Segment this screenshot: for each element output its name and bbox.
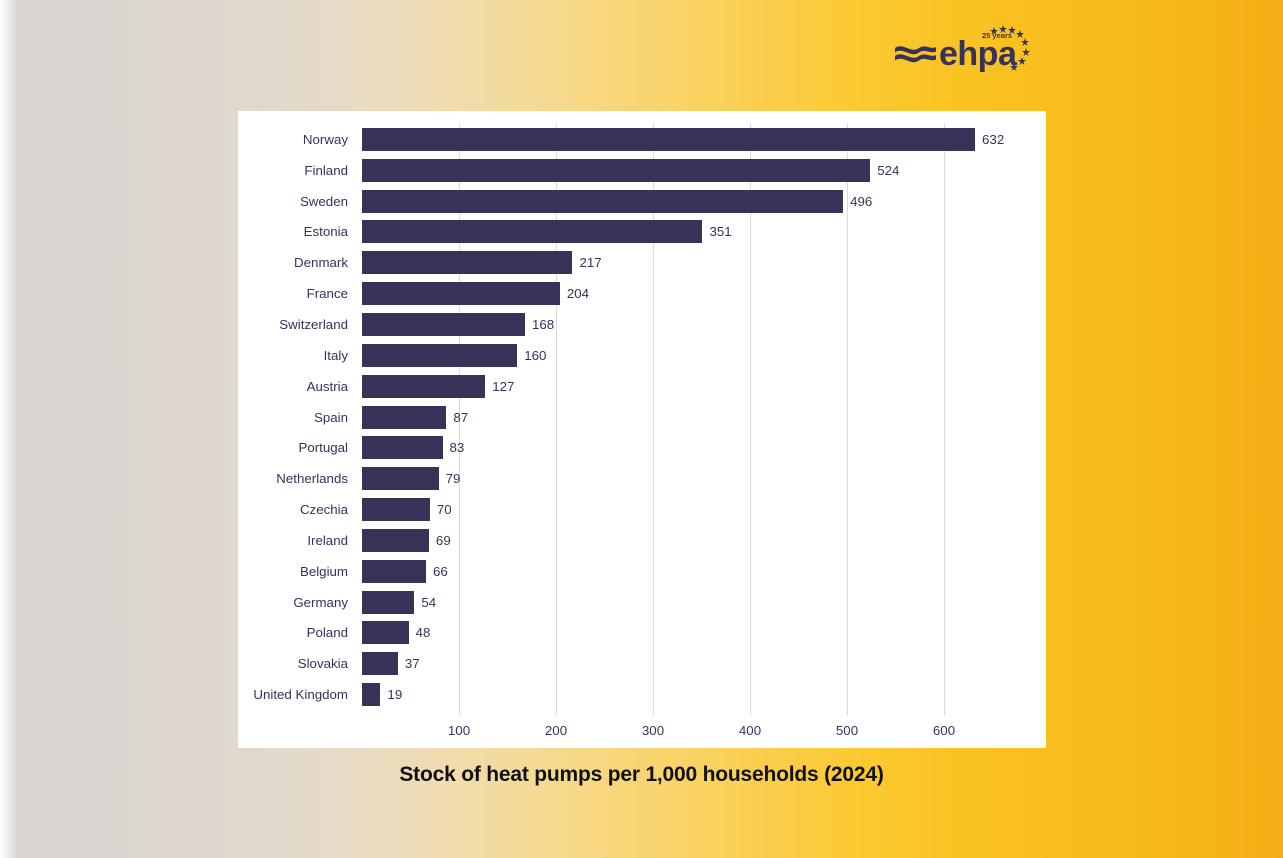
ehpa-logo: ehpa 25 years xyxy=(893,24,1038,74)
bar-value-label: 79 xyxy=(446,471,461,486)
bar-container: 69 xyxy=(362,525,451,556)
bar-value-label: 204 xyxy=(567,286,589,301)
bar-row: United Kingdom19 xyxy=(238,679,1046,710)
category-label-slovakia: Slovakia xyxy=(238,656,348,671)
bar-container: 79 xyxy=(362,463,460,494)
bar-value-label: 632 xyxy=(982,132,1004,147)
bar-container: 160 xyxy=(362,340,546,371)
bar[interactable] xyxy=(362,467,439,490)
bar[interactable] xyxy=(362,652,398,675)
bar-row: Netherlands79 xyxy=(238,463,1046,494)
bar-value-label: 168 xyxy=(532,317,554,332)
bar-container: 351 xyxy=(362,217,732,248)
category-label-spain: Spain xyxy=(238,410,348,425)
bar[interactable] xyxy=(362,313,525,336)
category-label-france: France xyxy=(238,286,348,301)
category-label-poland: Poland xyxy=(238,625,348,640)
x-tick-label-500: 500 xyxy=(836,723,858,738)
bar-container: 127 xyxy=(362,371,514,402)
bar-value-label: 83 xyxy=(450,440,465,455)
bar[interactable] xyxy=(362,282,560,305)
bar-row: Ireland69 xyxy=(238,525,1046,556)
bar-row: France204 xyxy=(238,278,1046,309)
bar-row: Belgium66 xyxy=(238,556,1046,587)
bar[interactable] xyxy=(362,251,572,274)
bar-row: Sweden496 xyxy=(238,186,1046,217)
bar-rows: Norway632Finland524Sweden496Estonia351De… xyxy=(238,124,1046,710)
bar-container: 83 xyxy=(362,432,464,463)
category-label-belgium: Belgium xyxy=(238,564,348,579)
bar-value-label: 524 xyxy=(877,163,899,178)
bar-value-label: 160 xyxy=(524,348,546,363)
bar-value-label: 351 xyxy=(709,224,731,239)
bar-container: 496 xyxy=(362,186,872,217)
bar-value-label: 54 xyxy=(421,595,436,610)
bar[interactable] xyxy=(362,344,517,367)
bar[interactable] xyxy=(362,190,843,213)
bar-container: 54 xyxy=(362,587,436,618)
x-tick-label-400: 400 xyxy=(739,723,761,738)
bar-value-label: 19 xyxy=(387,687,402,702)
category-label-denmark: Denmark xyxy=(238,255,348,270)
bar-row: Switzerland168 xyxy=(238,309,1046,340)
bar-container: 632 xyxy=(362,124,1004,155)
category-label-norway: Norway xyxy=(238,132,348,147)
x-tick-label-200: 200 xyxy=(545,723,567,738)
bar-value-label: 127 xyxy=(492,379,514,394)
bar[interactable] xyxy=(362,621,409,644)
bar-value-label: 496 xyxy=(850,194,872,209)
bar[interactable] xyxy=(362,498,430,521)
bar-container: 66 xyxy=(362,556,448,587)
bar-container: 87 xyxy=(362,402,468,433)
bar[interactable] xyxy=(362,529,429,552)
bar[interactable] xyxy=(362,436,443,459)
category-label-united-kingdom: United Kingdom xyxy=(238,687,348,702)
x-tick-label-100: 100 xyxy=(448,723,470,738)
bar-container: 168 xyxy=(362,309,554,340)
bar-container: 204 xyxy=(362,278,589,309)
bar-row: Norway632 xyxy=(238,124,1046,155)
bar[interactable] xyxy=(362,683,380,706)
category-label-portugal: Portugal xyxy=(238,440,348,455)
category-label-finland: Finland xyxy=(238,163,348,178)
category-label-sweden: Sweden xyxy=(238,194,348,209)
bar-row: Denmark217 xyxy=(238,247,1046,278)
bar-container: 524 xyxy=(362,155,899,186)
bar-value-label: 37 xyxy=(405,656,420,671)
chart-card: Norway632Finland524Sweden496Estonia351De… xyxy=(238,111,1046,748)
bar-row: Portugal83 xyxy=(238,432,1046,463)
bar-container: 217 xyxy=(362,247,602,278)
bar-row: Germany54 xyxy=(238,587,1046,618)
bar-value-label: 48 xyxy=(416,625,431,640)
bar-value-label: 87 xyxy=(453,410,468,425)
bar-value-label: 69 xyxy=(436,533,451,548)
bar-container: 37 xyxy=(362,648,420,679)
page-background: ehpa 25 years Norway632Fin xyxy=(0,0,1283,858)
bar-row: Czechia70 xyxy=(238,494,1046,525)
category-label-austria: Austria xyxy=(238,379,348,394)
bar-container: 48 xyxy=(362,618,430,649)
x-axis: 100200300400500600 xyxy=(238,715,1046,748)
chart-caption: Stock of heat pumps per 1,000 households… xyxy=(0,763,1283,787)
bar-row: Spain87 xyxy=(238,402,1046,433)
bar-container: 70 xyxy=(362,494,452,525)
bar[interactable] xyxy=(362,159,870,182)
bar-row: Italy160 xyxy=(238,340,1046,371)
bar-row: Estonia351 xyxy=(238,217,1046,248)
bar-value-label: 217 xyxy=(579,255,601,270)
bar[interactable] xyxy=(362,406,446,429)
category-label-germany: Germany xyxy=(238,595,348,610)
svg-text:25 years: 25 years xyxy=(982,31,1012,40)
category-label-ireland: Ireland xyxy=(238,533,348,548)
bar[interactable] xyxy=(362,128,975,151)
svg-text:ehpa: ehpa xyxy=(939,35,1018,73)
bar-row: Finland524 xyxy=(238,155,1046,186)
bar[interactable] xyxy=(362,375,485,398)
category-label-netherlands: Netherlands xyxy=(238,471,348,486)
x-tick-label-600: 600 xyxy=(933,723,955,738)
bar-value-label: 70 xyxy=(437,502,452,517)
category-label-switzerland: Switzerland xyxy=(238,317,348,332)
bar-row: Austria127 xyxy=(238,371,1046,402)
bar-row: Poland48 xyxy=(238,618,1046,649)
bar-value-label: 66 xyxy=(433,564,448,579)
category-label-italy: Italy xyxy=(238,348,348,363)
category-label-czechia: Czechia xyxy=(238,502,348,517)
bar-row: Slovakia37 xyxy=(238,648,1046,679)
bar[interactable] xyxy=(362,220,702,243)
x-tick-label-300: 300 xyxy=(642,723,664,738)
bar[interactable] xyxy=(362,560,426,583)
bar[interactable] xyxy=(362,591,414,614)
bar-chart: Norway632Finland524Sweden496Estonia351De… xyxy=(238,111,1046,748)
category-label-estonia: Estonia xyxy=(238,224,348,239)
bar-container: 19 xyxy=(362,679,402,710)
